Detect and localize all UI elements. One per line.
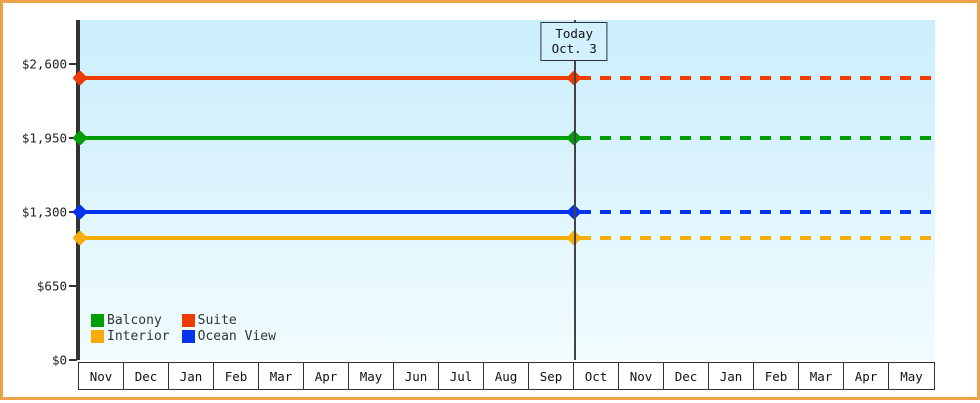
x-axis-month-labels: NovDecJanFebMarAprMayJunJulAugSepOctNovD… [78,362,935,390]
series-line-forecast-suite [580,76,935,80]
y-axis-tick-label: $1,300 [22,205,67,220]
y-axis-tick-labels: $0$650$1,300$1,950$2,600 [3,3,67,403]
series-line-forecast-balcony [580,136,935,140]
legend-label: Ocean View [198,330,276,343]
today-callout-box: TodayOct. 3 [541,22,608,61]
today-vertical-line [574,20,576,360]
legend-label: Interior [107,330,170,343]
series-line-solid-ocean-view [80,210,574,214]
series-line-solid-interior [80,236,574,240]
x-axis-month-cell: Feb [214,363,259,389]
series-line-forecast-interior [580,236,935,240]
x-axis-month-cell: May [349,363,394,389]
y-axis-tick-mark [69,285,77,287]
legend-label: Balcony [107,314,162,327]
chart-legend: BalconySuiteInteriorOcean View [91,314,276,343]
x-axis-month-cell: Nov [79,363,124,389]
legend-swatch-icon [91,330,104,343]
plot-area [80,20,935,360]
x-axis-month-cell: Mar [799,363,844,389]
x-axis-month-cell: Apr [844,363,889,389]
today-callout-line1: Today [552,26,597,41]
legend-entry-suite[interactable]: Suite [182,314,276,327]
y-axis-tick-label: $0 [52,353,67,368]
y-axis-tick-mark [69,63,77,65]
x-axis-month-cell: Dec [664,363,709,389]
x-axis-month-cell: Apr [304,363,349,389]
x-axis-month-cell: Jun [394,363,439,389]
legend-swatch-icon [91,314,104,327]
legend-swatch-icon [182,330,195,343]
legend-entry-ocean-view[interactable]: Ocean View [182,330,276,343]
x-axis-month-cell: Jul [439,363,484,389]
x-axis-month-cell: May [889,363,934,389]
today-callout-line2: Oct. 3 [552,41,597,56]
legend-entry-balcony[interactable]: Balcony [91,314,170,327]
series-line-solid-balcony [80,136,574,140]
legend-label: Suite [198,314,237,327]
y-axis-tick-label: $2,600 [22,57,67,72]
x-axis-month-cell: Aug [484,363,529,389]
x-axis-month-cell: Dec [124,363,169,389]
y-axis-tick-label: $650 [37,279,67,294]
x-axis-month-cell: Oct [574,363,619,389]
x-axis-month-cell: Sep [529,363,574,389]
x-axis-month-cell: Jan [709,363,754,389]
x-axis-month-cell: Mar [259,363,304,389]
x-axis-month-cell: Nov [619,363,664,389]
series-line-forecast-ocean-view [580,210,935,214]
x-axis-month-cell: Feb [754,363,799,389]
x-axis-month-cell: Jan [169,363,214,389]
legend-entry-interior[interactable]: Interior [91,330,170,343]
legend-swatch-icon [182,314,195,327]
chart-frame: $0$650$1,300$1,950$2,600 TodayOct. 3 Bal… [0,0,980,400]
series-line-solid-suite [80,76,574,80]
y-axis-tick-label: $1,950 [22,131,67,146]
y-axis-tick-mark [69,359,77,361]
